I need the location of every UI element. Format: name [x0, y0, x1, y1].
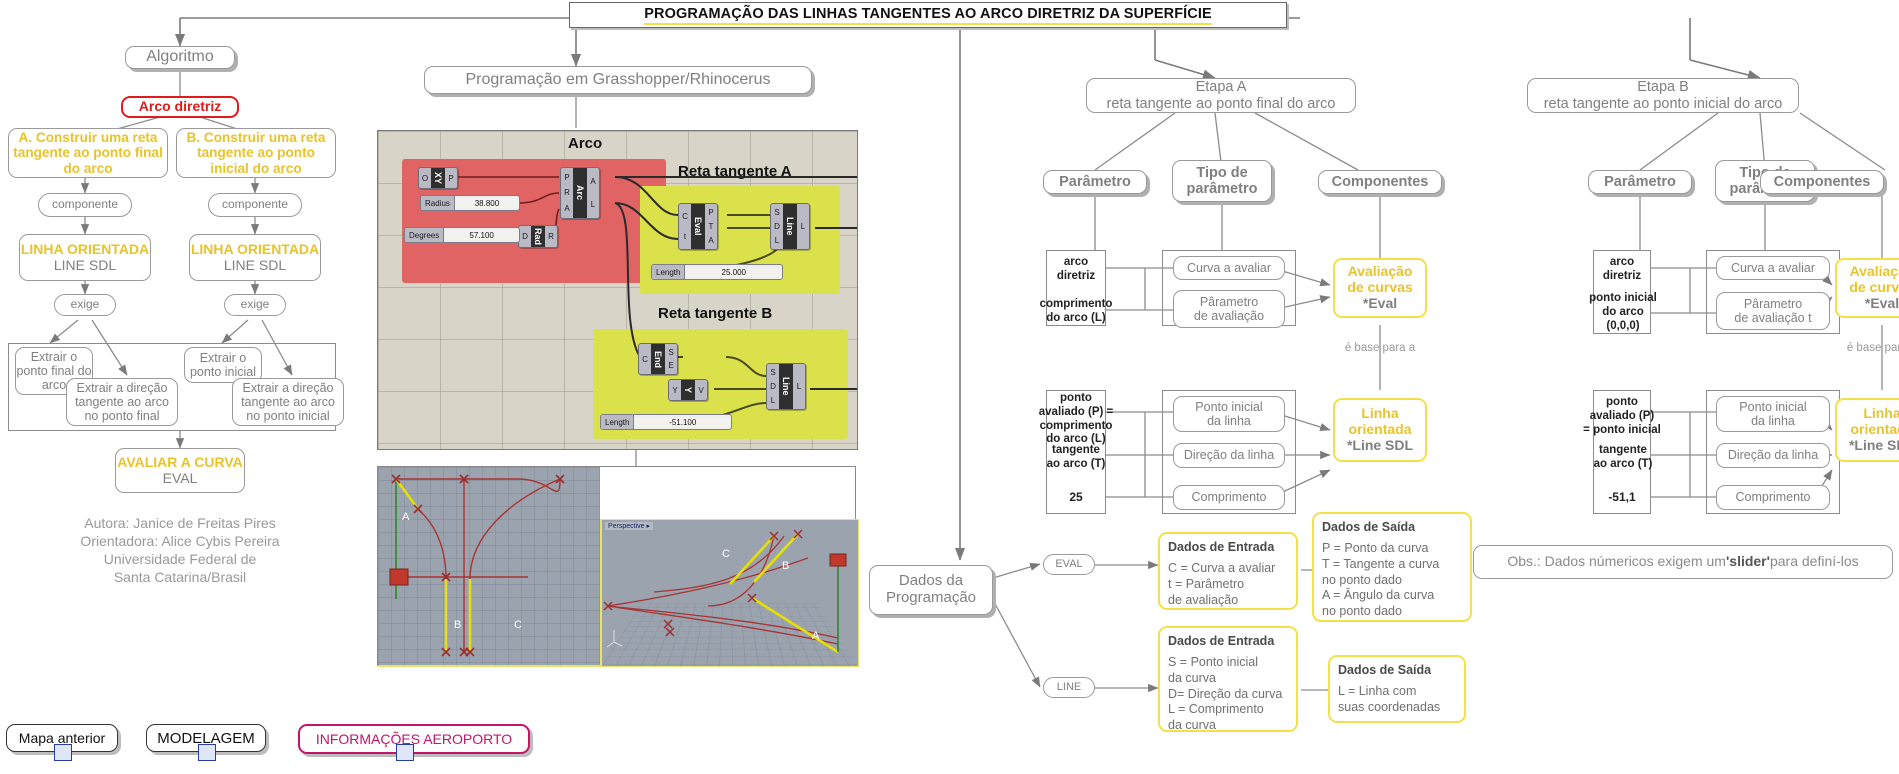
- gh-y-inputs: Y: [669, 380, 681, 400]
- box-eval-saida: Dados de Saída P = Ponto da curva T = Ta…: [1312, 512, 1472, 622]
- line-entrada-body: S = Ponto inicial da curva D= Direção da…: [1168, 655, 1296, 734]
- node-etapa-a-componentes[interactable]: Componentes: [1318, 170, 1442, 194]
- pill-line[interactable]: LINE: [1043, 677, 1095, 698]
- node-etapa-a-parametro[interactable]: Parâmetro: [1043, 170, 1147, 194]
- pill-eval[interactable]: EVAL: [1043, 554, 1095, 575]
- line-saida-title: Dados de Saída: [1338, 663, 1464, 677]
- gh-slider-length-a[interactable]: Length 25.000: [651, 264, 783, 280]
- etapa-a-connector-text: é base para a: [1330, 342, 1430, 354]
- page-title: PROGRAMAÇÃO DAS LINHAS TANGENTES AO ARCO…: [569, 2, 1287, 28]
- node-a-construir[interactable]: A. Construir uma reta tangente ao ponto …: [8, 128, 168, 178]
- node-dados-programacao[interactable]: Dados da Programação: [869, 565, 993, 615]
- gh-end-inputs: C: [639, 344, 651, 374]
- line-entrada-title: Dados de Entrada: [1168, 634, 1296, 648]
- node-componente-a[interactable]: componente: [38, 193, 132, 217]
- gh-component-end[interactable]: C End SE: [638, 343, 678, 375]
- etapa-a-param2-item1: tangente ao arco (T): [1038, 444, 1114, 472]
- etapa-a-param1-item1: comprimento do arco (L): [1038, 298, 1114, 326]
- gh-component-rad[interactable]: D Rad R: [518, 225, 558, 248]
- gh-slider-radius[interactable]: Radius 38.800: [420, 195, 520, 211]
- node-exige-a[interactable]: exige: [54, 294, 116, 316]
- gh-component-eval[interactable]: Ct Eval PTA: [678, 203, 718, 250]
- rhino-label-a-top: A: [402, 511, 409, 523]
- obs-pre: Obs.: Dados númericos exigem um: [1507, 554, 1726, 570]
- rhino-label-b-top: B: [454, 619, 461, 631]
- eval-saida-body: P = Ponto da curva T = Tangente a curva …: [1322, 541, 1470, 620]
- obs-post: para definí-los: [1770, 554, 1859, 570]
- gh-end-core: End: [651, 344, 665, 374]
- sitemap-icon-1: [54, 744, 72, 761]
- etapa-a-tipo2-item0[interactable]: Ponto inicial da linha: [1173, 396, 1285, 432]
- etapa-b-param2-item2: -51,1: [1593, 490, 1651, 504]
- rhino-label-a-persp: A: [812, 630, 819, 642]
- button-informacoes-aeroporto[interactable]: INFORMAÇÕES AEROPORTO: [298, 724, 530, 754]
- gh-xy-core: XY: [431, 168, 445, 188]
- gh-eval-core: Eval: [691, 204, 705, 249]
- rhino-label-c-persp: C: [722, 548, 730, 560]
- node-programacao-header[interactable]: Programação em Grasshopper/Rhinocerus: [424, 66, 812, 94]
- gh-component-line-a[interactable]: SDL Line L: [770, 203, 810, 250]
- gh-slider-degrees[interactable]: Degrees 57.100: [404, 227, 520, 243]
- gh-slider-radius-label: Radius: [421, 196, 455, 210]
- node-avaliar-curva[interactable]: AVALIAR A CURVA EVAL: [115, 448, 245, 493]
- gh-line-a-inputs: SDL: [771, 204, 783, 249]
- box-line-entrada: Dados de Entrada S = Ponto inicial da cu…: [1158, 626, 1298, 732]
- etapa-b-componente-line[interactable]: Linha orientada *Line SDL: [1835, 398, 1899, 462]
- etapa-b-connector-text: é base para a: [1832, 342, 1899, 354]
- gh-arc-core: Arc: [573, 168, 587, 218]
- gh-xy-input: O: [419, 168, 431, 188]
- grasshopper-canvas[interactable]: Arco Reta tangente A Reta tangente B O X…: [377, 130, 858, 450]
- node-b-construir[interactable]: B. Construir uma reta tangente ao ponto …: [176, 128, 336, 178]
- etapa-b-tipo2-item1[interactable]: Direção da linha: [1716, 443, 1830, 468]
- gh-eval-outputs: PTA: [705, 204, 717, 249]
- obs-bold: 'slider': [1726, 554, 1770, 570]
- node-algoritmo[interactable]: Algoritmo: [125, 46, 235, 69]
- gh-rad-output: R: [545, 226, 557, 247]
- node-etapa-a-header[interactable]: Etapa A reta tangente ao ponto final do …: [1086, 78, 1356, 113]
- line-saida-body: L = Linha com suas coordenadas: [1338, 684, 1464, 716]
- etapa-b-componente-eval[interactable]: Avaliação de curvas *Eval: [1835, 258, 1899, 318]
- gh-slider-degrees-label: Degrees: [405, 228, 444, 242]
- node-etapa-b-componentes[interactable]: Componentes: [1760, 170, 1884, 194]
- gh-component-line-b[interactable]: SDL Line L: [766, 363, 806, 410]
- eval-saida-title: Dados de Saída: [1322, 520, 1470, 534]
- etapa-b-tipo2-item0[interactable]: Ponto inicial da linha: [1716, 396, 1830, 432]
- etapa-a-param2-item2: 25: [1046, 490, 1106, 504]
- etapa-b-tipo1-item1[interactable]: Pârametro de avaliação t: [1716, 292, 1830, 330]
- etapa-b-tipo2-item2[interactable]: Comprimento: [1716, 485, 1830, 510]
- etapa-a-tipo1-item0[interactable]: Curva a avaliar: [1173, 256, 1285, 280]
- box-line-saida: Dados de Saída L = Linha com suas coorde…: [1328, 655, 1466, 723]
- etapa-a-componente-line[interactable]: Linha orientada *Line SDL: [1333, 398, 1427, 462]
- gh-xy-output: P: [445, 168, 457, 188]
- etapa-b-param1-item1: ponto inicial do arco (0,0,0): [1586, 292, 1660, 333]
- node-etapa-b-header[interactable]: Etapa B reta tangente ao ponto inicial d…: [1527, 78, 1799, 113]
- rhino-top-geometry: [378, 467, 600, 665]
- gh-line-b-core: Line: [779, 364, 793, 409]
- gh-y-core: Y: [681, 380, 695, 400]
- etapa-a-param1-item0: arco diretriz: [1046, 256, 1106, 284]
- node-linha-orientada-a[interactable]: LINHA ORIENTADA LINE SDL: [19, 234, 151, 281]
- gh-rad-core: Rad: [531, 226, 545, 247]
- rhino-viewport-perspective[interactable]: Perspective ▸ C B A: [600, 519, 859, 667]
- node-linha-orientada-b[interactable]: LINHA ORIENTADA LINE SDL: [189, 234, 321, 281]
- gh-arc-inputs: PRA: [561, 168, 573, 218]
- gh-slider-length-a-label: Length: [652, 265, 685, 279]
- gh-component-arc[interactable]: PRA Arc AL: [560, 167, 600, 219]
- rhino-label-b-persp: B: [782, 560, 789, 572]
- etapa-a-param2-item0: ponto avaliado (P) = comprimento do arco…: [1030, 392, 1122, 447]
- node-etapa-a-tipo[interactable]: Tipo de parâmetro: [1172, 160, 1272, 202]
- credits-text: Autora: Janice de Freitas Pires Orientad…: [10, 515, 350, 587]
- gh-y-outputs: V: [695, 380, 707, 400]
- node-extrair-direcao-final[interactable]: Extrair a direção tangente ao arco no po…: [66, 378, 178, 426]
- gh-line-a-core: Line: [783, 204, 797, 249]
- gh-slider-length-b-label: Length: [601, 415, 634, 429]
- etapa-b-param2-item0: ponto avaliado (P) = ponto inicial: [1576, 396, 1668, 437]
- rhino-viewport-panel[interactable]: A B C Perspective ▸: [377, 466, 856, 666]
- etapa-b-param2-item1: tangente ao arco (T): [1586, 444, 1660, 472]
- etapa-b-param1-item0: arco diretriz: [1593, 256, 1651, 284]
- etapa-a-tipo2-item1[interactable]: Direção da linha: [1173, 443, 1285, 468]
- gh-slider-length-b[interactable]: Length -51.100: [600, 414, 732, 430]
- gh-slider-length-b-track[interactable]: -51.100: [634, 418, 731, 427]
- node-etapa-b-parametro[interactable]: Parâmetro: [1588, 170, 1692, 194]
- gh-slider-degrees-track[interactable]: 57.100: [444, 231, 519, 240]
- eval-entrada-body: C = Curva a avaliar t = Parâmetro de ava…: [1168, 561, 1296, 608]
- gh-component-y[interactable]: Y Y V: [668, 379, 708, 401]
- etapa-a-tipo1-item1[interactable]: Pârametro de avaliação: [1173, 290, 1285, 328]
- gh-line-a-outputs: L: [797, 204, 809, 249]
- gh-line-b-outputs: L: [793, 364, 805, 409]
- gh-arc-outputs: AL: [587, 168, 599, 218]
- sitemap-icon-2: [198, 744, 216, 761]
- gh-rad-input: D: [519, 226, 531, 247]
- gh-component-xy[interactable]: O XY P: [418, 167, 458, 189]
- etapa-a-componente-eval[interactable]: Avaliação de curvas *Eval: [1333, 258, 1427, 318]
- gh-slider-radius-track[interactable]: 38.800: [455, 199, 519, 208]
- rhino-persp-geometry: [602, 520, 858, 666]
- rhino-viewport-top[interactable]: A B C: [378, 467, 600, 667]
- gh-line-b-inputs: SDL: [767, 364, 779, 409]
- etapa-a-tipo2-item2[interactable]: Comprimento: [1173, 485, 1285, 510]
- node-arco-diretriz[interactable]: Arco diretriz: [121, 96, 239, 118]
- gh-eval-inputs: Ct: [679, 204, 691, 249]
- sitemap-icon-3: [396, 744, 414, 761]
- box-eval-entrada: Dados de Entrada C = Curva a avaliar t =…: [1158, 532, 1298, 610]
- box-observacao: Obs.: Dados númericos exigem um 'slider'…: [1473, 545, 1893, 579]
- node-componente-b[interactable]: componente: [208, 193, 302, 217]
- eval-entrada-title: Dados de Entrada: [1168, 540, 1296, 554]
- gh-slider-length-a-track[interactable]: 25.000: [685, 268, 782, 277]
- gh-end-outputs: SE: [665, 344, 677, 374]
- rhino-label-c-top: C: [514, 619, 522, 631]
- etapa-b-tipo1-item0[interactable]: Curva a avaliar: [1716, 256, 1830, 280]
- node-extrair-direcao-inicial[interactable]: Extrair a direção tangente ao arco no po…: [232, 378, 344, 426]
- page-title-text: PROGRAMAÇÃO DAS LINHAS TANGENTES AO ARCO…: [644, 6, 1212, 25]
- node-exige-b[interactable]: exige: [224, 294, 286, 316]
